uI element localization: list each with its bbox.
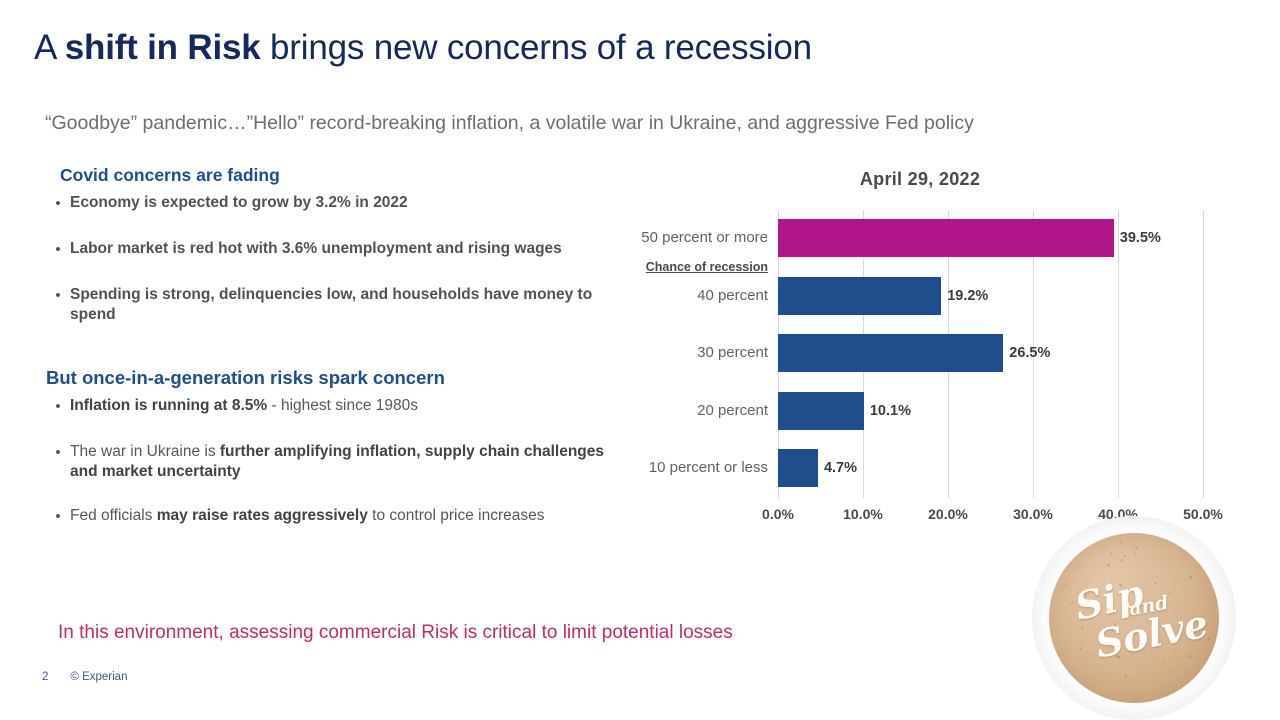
left-content-column: Covid concerns are fading • Economy is e… bbox=[46, 164, 616, 544]
coffee-speck bbox=[1202, 542, 1204, 544]
chart-bar-row: 10 percent or less4.7% bbox=[778, 440, 1203, 498]
bullet-dot-icon: • bbox=[46, 193, 70, 215]
coffee-speck bbox=[1107, 564, 1109, 566]
bullet-list-risks: • Inflation is running at 8.5% - highest… bbox=[46, 396, 616, 528]
coffee-speck bbox=[1068, 689, 1070, 691]
bullet-dot-icon: • bbox=[46, 442, 70, 464]
callout-text: In this environment, assessing commercia… bbox=[58, 622, 733, 644]
chart-title: April 29, 2022 bbox=[620, 169, 1220, 190]
list-item: • Inflation is running at 8.5% - highest… bbox=[46, 396, 616, 418]
section-heading-covid: Covid concerns are fading bbox=[60, 164, 616, 186]
bullet-text: The war in Ukraine is further amplifying… bbox=[70, 442, 616, 482]
bullet-text-lead: The war in Ukraine is bbox=[70, 443, 220, 460]
bullet-text: Labor market is red hot with 3.6% unempl… bbox=[70, 239, 616, 259]
coffee-speck bbox=[1134, 553, 1136, 555]
copyright-label: © Experian bbox=[70, 671, 127, 683]
chart-value-label: 26.5% bbox=[1003, 334, 1050, 372]
chart-value-label: 19.2% bbox=[941, 277, 988, 315]
section-heading-risks: But once-in-a-generation risks spark con… bbox=[46, 367, 616, 389]
coffee-speck bbox=[1078, 566, 1081, 569]
chart-category-label: 50 percent or more bbox=[598, 219, 778, 257]
coffee-speck bbox=[1188, 655, 1191, 658]
chart-gridline bbox=[1203, 210, 1204, 498]
coffee-speck bbox=[1189, 576, 1192, 579]
chart-bar[interactable] bbox=[778, 219, 1114, 257]
coffee-speck bbox=[1191, 554, 1192, 555]
list-item: • The war in Ukraine is further amplifyi… bbox=[46, 442, 616, 482]
page-subtitle: “Goodbye” pandemic…”Hello” record-breaki… bbox=[45, 110, 1255, 136]
footer: 2© Experian bbox=[42, 671, 127, 683]
bullet-text-bold: Inflation is running at 8.5% bbox=[70, 397, 267, 414]
bullet-text: Inflation is running at 8.5% - highest s… bbox=[70, 396, 616, 416]
chart-bar-row: 20 percent10.1% bbox=[778, 383, 1203, 441]
coffee-speck bbox=[1093, 654, 1095, 656]
page-title: A shift in Risk brings new concerns of a… bbox=[34, 26, 1234, 70]
bullet-text-rest: - highest since 1980s bbox=[267, 397, 418, 414]
coffee-speck bbox=[1141, 643, 1143, 645]
chart-bar[interactable] bbox=[778, 334, 1003, 372]
bullet-text: Spending is strong, delinquencies low, a… bbox=[70, 285, 616, 325]
coffee-speck bbox=[1116, 655, 1119, 658]
spacer bbox=[46, 434, 616, 442]
coffee-speck bbox=[1103, 545, 1104, 546]
coffee-speck bbox=[1081, 626, 1084, 629]
coffee-speck bbox=[1178, 677, 1179, 678]
coffee-speck bbox=[1119, 584, 1121, 586]
spacer bbox=[46, 231, 616, 239]
title-suffix: brings new concerns of a recession bbox=[261, 28, 812, 67]
chart-bar[interactable] bbox=[778, 449, 818, 487]
page-number: 2 bbox=[42, 671, 48, 683]
chart-bar-row: 30 percent26.5% bbox=[778, 325, 1203, 383]
chart-axis-caption: Chance of recession bbox=[598, 260, 778, 274]
recession-chance-chart: April 29, 2022 50 percent or more39.5%40… bbox=[620, 164, 1260, 564]
coffee-speck bbox=[1191, 613, 1193, 615]
coffee-speck bbox=[1061, 590, 1063, 592]
list-item: • Labor market is red hot with 3.6% unem… bbox=[46, 239, 616, 261]
sip-and-solve-logo: Sip and Solve bbox=[1032, 516, 1236, 720]
chart-category-label: 20 percent bbox=[598, 392, 778, 430]
bullet-list-covid: • Economy is expected to grow by 3.2% in… bbox=[46, 193, 616, 325]
chart-x-tick-label: 20.0% bbox=[928, 506, 968, 522]
coffee-speck bbox=[1110, 553, 1112, 555]
coffee-speck bbox=[1070, 602, 1072, 604]
bullet-dot-icon: • bbox=[46, 285, 70, 307]
chart-category-label: 10 percent or less bbox=[598, 449, 778, 487]
spacer bbox=[46, 498, 616, 506]
chart-value-label: 10.1% bbox=[864, 392, 911, 430]
bullet-text: Economy is expected to grow by 3.2% in 2… bbox=[70, 193, 616, 213]
chart-plot-area: 50 percent or more39.5%40 percent19.2%30… bbox=[778, 210, 1203, 498]
title-emphasis: shift in Risk bbox=[65, 28, 261, 67]
bullet-dot-icon: • bbox=[46, 396, 70, 418]
chart-x-tick-label: 10.0% bbox=[843, 506, 883, 522]
list-item: • Economy is expected to grow by 3.2% in… bbox=[46, 193, 616, 215]
list-item: • Fed officials may raise rates aggressi… bbox=[46, 506, 616, 528]
chart-value-label: 4.7% bbox=[818, 449, 857, 487]
chart-bar-row: 50 percent or more39.5% bbox=[778, 210, 1203, 268]
bullet-text-lead: Fed officials bbox=[70, 507, 157, 524]
bullet-dot-icon: • bbox=[46, 506, 70, 528]
chart-bar[interactable] bbox=[778, 277, 941, 315]
bullet-text-rest: to control price increases bbox=[368, 507, 545, 524]
chart-category-label: 30 percent bbox=[598, 334, 778, 372]
bullet-dot-icon: • bbox=[46, 239, 70, 261]
coffee-speck bbox=[1195, 632, 1197, 634]
bullet-text: Fed officials may raise rates aggressive… bbox=[70, 506, 616, 526]
coffee-speck bbox=[1106, 608, 1109, 611]
coffee-speck bbox=[1164, 661, 1166, 663]
coffee-speck bbox=[1125, 686, 1126, 687]
coffee-speck bbox=[1063, 553, 1064, 554]
coffee-surface-icon: Sip and Solve bbox=[1049, 533, 1219, 703]
list-item: • Spending is strong, delinquencies low,… bbox=[46, 285, 616, 325]
coffee-speck bbox=[1080, 648, 1081, 649]
chart-value-label: 39.5% bbox=[1114, 219, 1161, 257]
coffee-speck bbox=[1204, 676, 1206, 678]
bullet-text-bold: may raise rates aggressively bbox=[157, 507, 368, 524]
chart-bar-row: 40 percent19.2% bbox=[778, 268, 1203, 326]
spacer bbox=[46, 341, 616, 367]
chart-x-tick-label: 50.0% bbox=[1183, 506, 1223, 522]
chart-category-label: 40 percent bbox=[598, 277, 778, 315]
title-prefix: A bbox=[34, 28, 65, 67]
chart-x-tick-label: 30.0% bbox=[1013, 506, 1053, 522]
coffee-speck bbox=[1207, 638, 1209, 640]
coffee-speck bbox=[1120, 645, 1121, 646]
logo-text: Sip and Solve bbox=[1049, 533, 1219, 703]
chart-bar[interactable] bbox=[778, 392, 864, 430]
spacer bbox=[46, 277, 616, 285]
coffee-speck bbox=[1065, 583, 1067, 585]
chart-x-tick-label: 0.0% bbox=[762, 506, 794, 522]
